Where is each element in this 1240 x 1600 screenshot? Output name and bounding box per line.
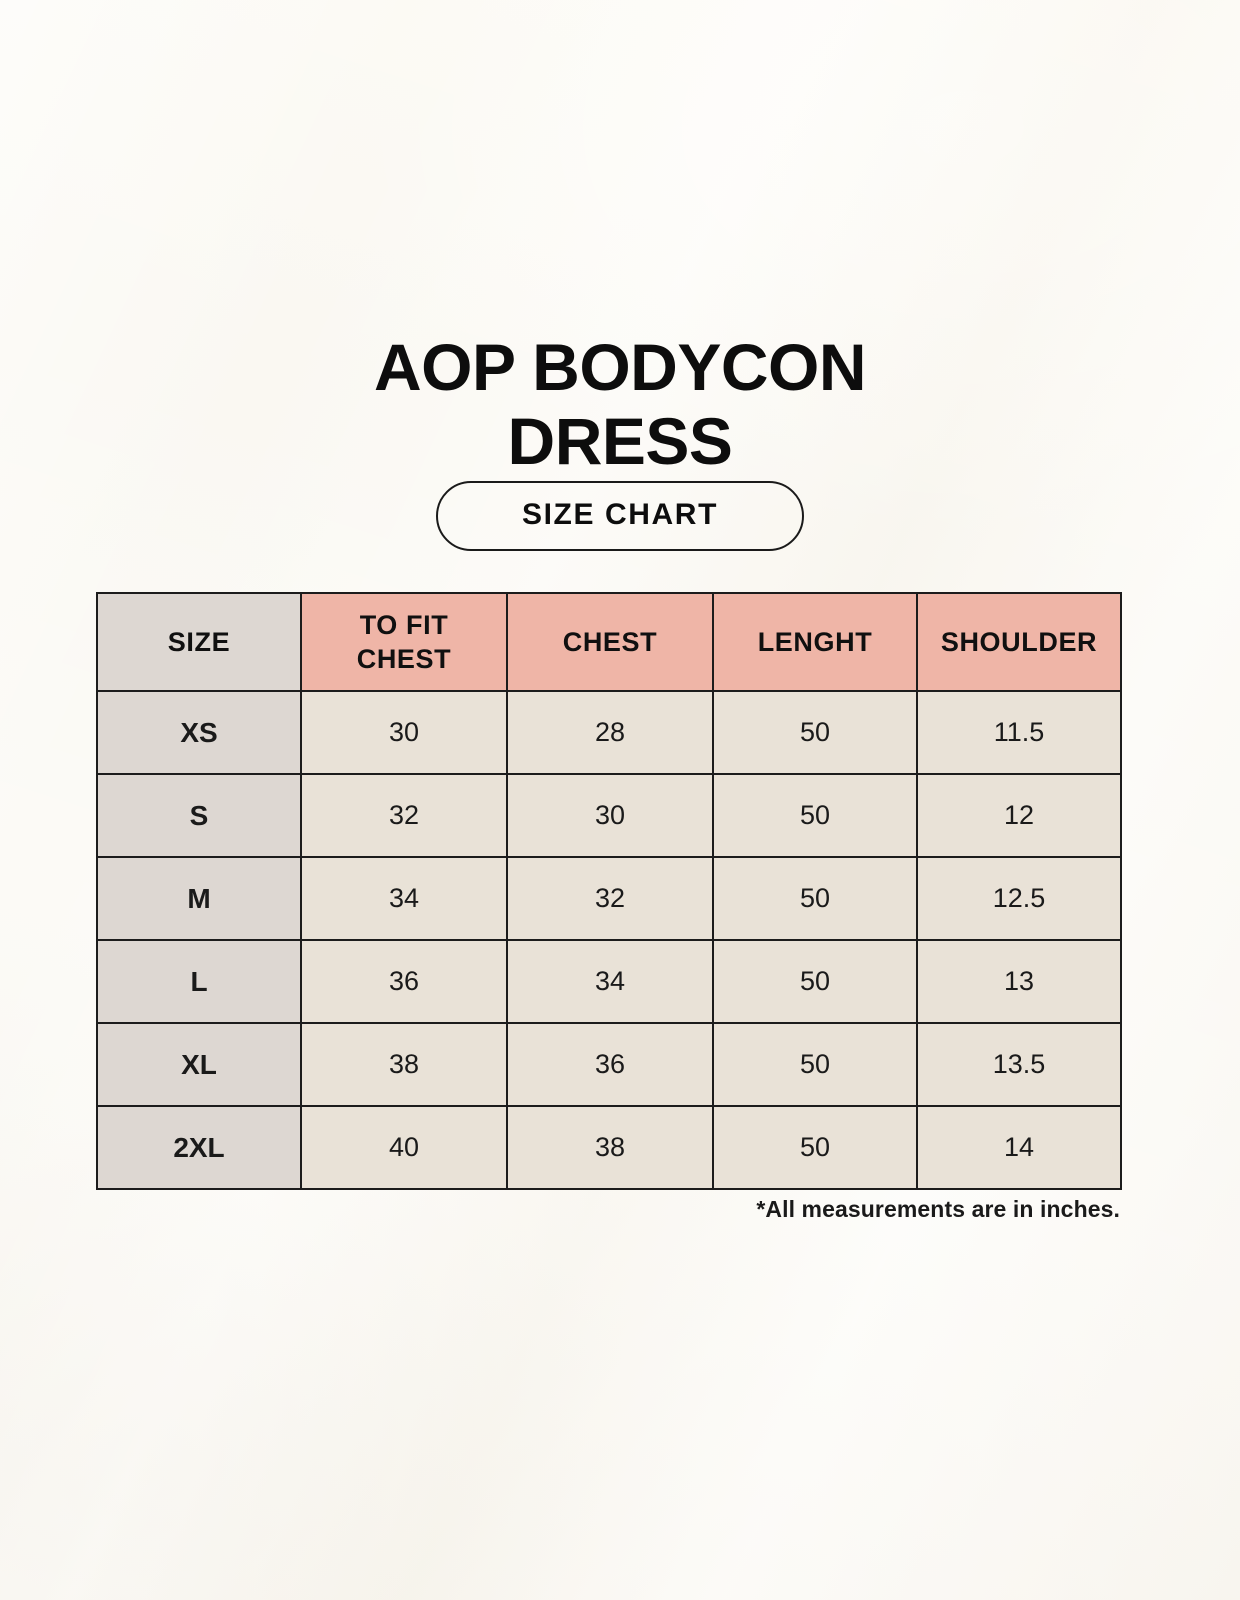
size-table-wrap: SIZE TO FIT CHEST CHEST LENGHT SHOULDER …	[96, 592, 1120, 1190]
cell-chest: 28	[507, 691, 713, 774]
cell-chest: 38	[507, 1106, 713, 1189]
cell-chest: 36	[507, 1023, 713, 1106]
column-header-to-fit-chest-line-2: CHEST	[357, 644, 452, 674]
cell-chest: 30	[507, 774, 713, 857]
cell-lenght: 50	[713, 691, 917, 774]
cell-shoulder: 13.5	[917, 1023, 1121, 1106]
cell-to-fit-chest: 34	[301, 857, 507, 940]
cell-lenght: 50	[713, 857, 917, 940]
cell-chest: 32	[507, 857, 713, 940]
size-table: SIZE TO FIT CHEST CHEST LENGHT SHOULDER …	[96, 592, 1122, 1190]
column-header-chest: CHEST	[507, 593, 713, 691]
measurements-note: *All measurements are in inches.	[96, 1196, 1120, 1223]
size-chart-badge: SIZE CHART	[436, 481, 804, 551]
cell-lenght: 50	[713, 1023, 917, 1106]
cell-lenght: 50	[713, 774, 917, 857]
table-row: 2XL 40 38 50 14	[97, 1106, 1121, 1189]
cell-to-fit-chest: 38	[301, 1023, 507, 1106]
cell-chest: 34	[507, 940, 713, 1023]
page-title-line-1: AOP BODYCON	[374, 330, 866, 404]
size-table-body: XS 30 28 50 11.5 S 32 30 50 12 M 34 32	[97, 691, 1121, 1189]
size-table-header: SIZE TO FIT CHEST CHEST LENGHT SHOULDER	[97, 593, 1121, 691]
cell-to-fit-chest: 36	[301, 940, 507, 1023]
cell-size: XL	[97, 1023, 301, 1106]
cell-shoulder: 12.5	[917, 857, 1121, 940]
table-row: XL 38 36 50 13.5	[97, 1023, 1121, 1106]
cell-size: XS	[97, 691, 301, 774]
cell-size: S	[97, 774, 301, 857]
page-title-line-2: DRESS	[508, 404, 733, 478]
cell-size: L	[97, 940, 301, 1023]
column-header-to-fit-chest: TO FIT CHEST	[301, 593, 507, 691]
table-row: XS 30 28 50 11.5	[97, 691, 1121, 774]
cell-to-fit-chest: 30	[301, 691, 507, 774]
page-title: AOP BODYCON DRESS	[0, 330, 1240, 478]
cell-lenght: 50	[713, 940, 917, 1023]
table-row: M 34 32 50 12.5	[97, 857, 1121, 940]
cell-shoulder: 13	[917, 940, 1121, 1023]
cell-shoulder: 11.5	[917, 691, 1121, 774]
cell-size: 2XL	[97, 1106, 301, 1189]
cell-to-fit-chest: 40	[301, 1106, 507, 1189]
column-header-lenght: LENGHT	[713, 593, 917, 691]
column-header-shoulder: SHOULDER	[917, 593, 1121, 691]
column-header-size: SIZE	[97, 593, 301, 691]
table-row: S 32 30 50 12	[97, 774, 1121, 857]
size-chart-page: AOP BODYCON DRESS SIZE CHART SIZE TO FIT…	[0, 0, 1240, 1600]
cell-size: M	[97, 857, 301, 940]
cell-shoulder: 12	[917, 774, 1121, 857]
cell-shoulder: 14	[917, 1106, 1121, 1189]
size-chart-badge-wrap: SIZE CHART	[0, 481, 1240, 551]
column-header-to-fit-chest-line-1: TO FIT	[360, 610, 449, 640]
cell-to-fit-chest: 32	[301, 774, 507, 857]
cell-lenght: 50	[713, 1106, 917, 1189]
table-header-row: SIZE TO FIT CHEST CHEST LENGHT SHOULDER	[97, 593, 1121, 691]
table-row: L 36 34 50 13	[97, 940, 1121, 1023]
